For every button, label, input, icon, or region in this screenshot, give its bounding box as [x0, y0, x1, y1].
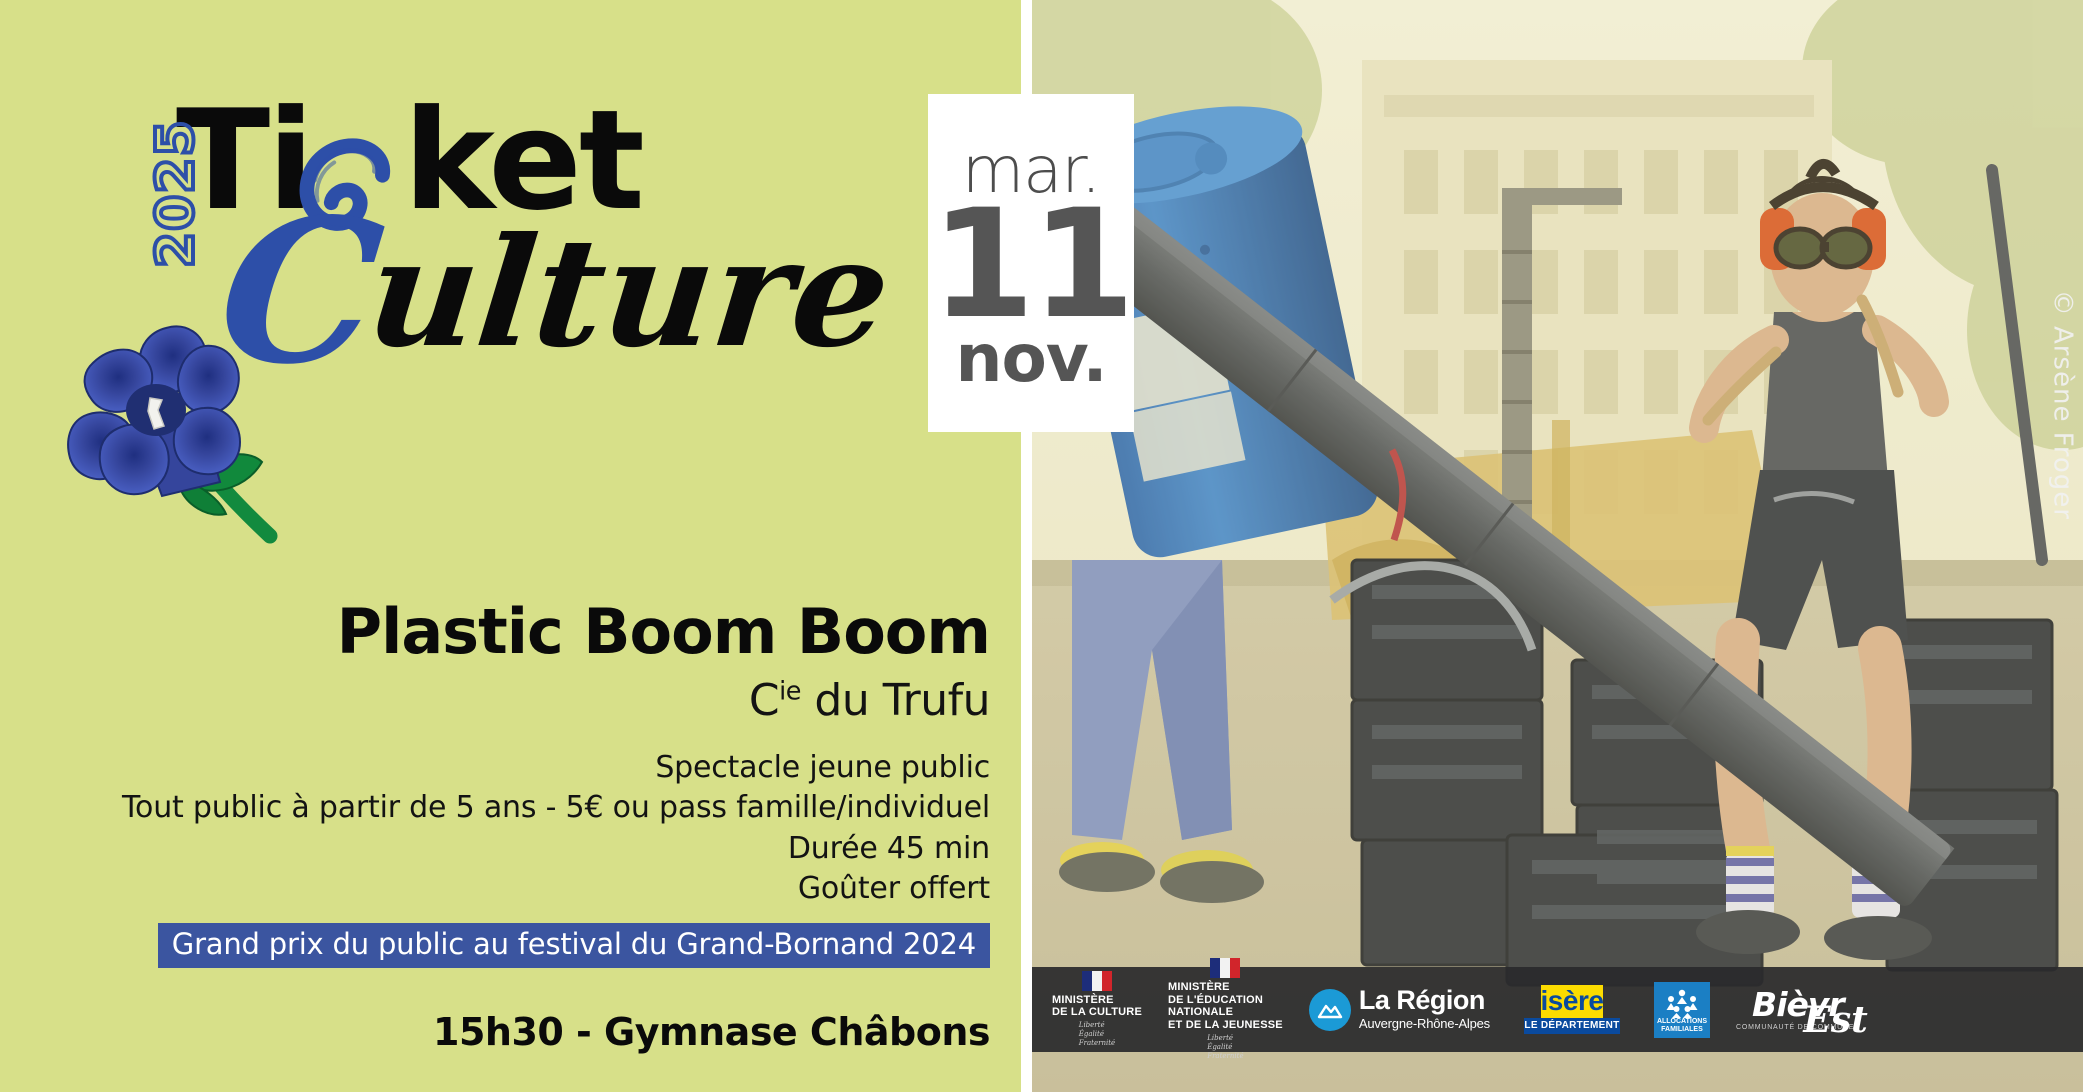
brand-script-rest: ulture [360, 205, 897, 381]
poster-canvas: Tioket 2025 Culture [0, 0, 2083, 1092]
french-flag-icon [1210, 958, 1240, 978]
date-month: nov. [955, 328, 1106, 391]
logo-isere: isère LE DÉPARTEMENT [1516, 985, 1628, 1033]
ticket-culture-logo: Tioket 2025 Culture [0, 0, 1021, 460]
ministry-education-motto: Liberté Égalité Fraternité [1207, 1034, 1243, 1061]
logo-allocations-familiales: ALLOCATIONS FAMILIALES [1654, 982, 1710, 1038]
event-details: Spectacle jeune public Tout public à par… [60, 748, 990, 909]
caf-people-icon [1662, 988, 1702, 1018]
partner-logo-bar: MINISTÈRE DE LA CULTURE Liberté Égalité … [1032, 967, 2083, 1052]
date-badge: mar. 11 nov. [928, 94, 1134, 432]
gentian-flower-icon [44, 300, 304, 550]
show-title: Plastic Boom Boom [60, 600, 990, 663]
photo-credit: © Arsène Froger [2047, 290, 2077, 520]
event-info-block: Plastic Boom Boom Cie du Trufu Spectacle… [60, 600, 990, 1054]
brand-wordmark-culture: Culture [214, 218, 896, 368]
company-name: Cie du Trufu [60, 675, 990, 726]
logo-la-region: La Région Auvergne-Rhône-Alpes [1309, 987, 1490, 1032]
region-title: La Région [1359, 987, 1490, 1014]
logo-bievre-est: Bièvr Est COMMUNAUTÉ DE COMMUNES [1736, 988, 1860, 1031]
french-flag-icon [1082, 971, 1112, 991]
isere-name: isère [1541, 985, 1604, 1017]
detail-line: Spectacle jeune public [60, 748, 990, 788]
logo-ministry-culture: MINISTÈRE DE LA CULTURE Liberté Égalité … [1052, 971, 1142, 1049]
logo-year: 2025 [146, 128, 186, 268]
ministry-culture-name: MINISTÈRE DE LA CULTURE [1052, 994, 1142, 1020]
venue-and-time: 15h30 - Gymnase Châbons [60, 1010, 990, 1054]
company-sup: ie [779, 677, 801, 707]
bievre-accent: Est [1803, 1002, 1867, 1038]
mountain-mark-icon [1309, 989, 1351, 1031]
left-info-panel: Tioket 2025 Culture [0, 0, 1021, 1092]
company-suffix: du Trufu [801, 675, 990, 726]
company-prefix: C [749, 675, 779, 726]
caf-name: ALLOCATIONS FAMILIALES [1657, 1018, 1707, 1034]
detail-line: Tout public à partir de 5 ans - 5€ ou pa… [60, 788, 990, 828]
isere-tagline: LE DÉPARTEMENT [1524, 1018, 1619, 1034]
award-banner: Grand prix du public au festival du Gran… [158, 923, 990, 968]
detail-line: Durée 45 min [60, 829, 990, 869]
ministry-culture-motto: Liberté Égalité Fraternité [1079, 1021, 1115, 1048]
detail-line: Goûter offert [60, 869, 990, 909]
ministry-education-name: MINISTÈRE DE L'ÉDUCATION NATIONALE ET DE… [1168, 981, 1283, 1032]
photo-illustration [1032, 0, 2083, 1092]
date-day-number: 11 [931, 196, 1132, 334]
performance-photo: © Arsène Froger MINISTÈRE DE LA CULTURE … [1032, 0, 2083, 1092]
region-subtitle: Auvergne-Rhône-Alpes [1359, 1016, 1490, 1032]
logo-ministry-education: MINISTÈRE DE L'ÉDUCATION NATIONALE ET DE… [1168, 958, 1283, 1061]
